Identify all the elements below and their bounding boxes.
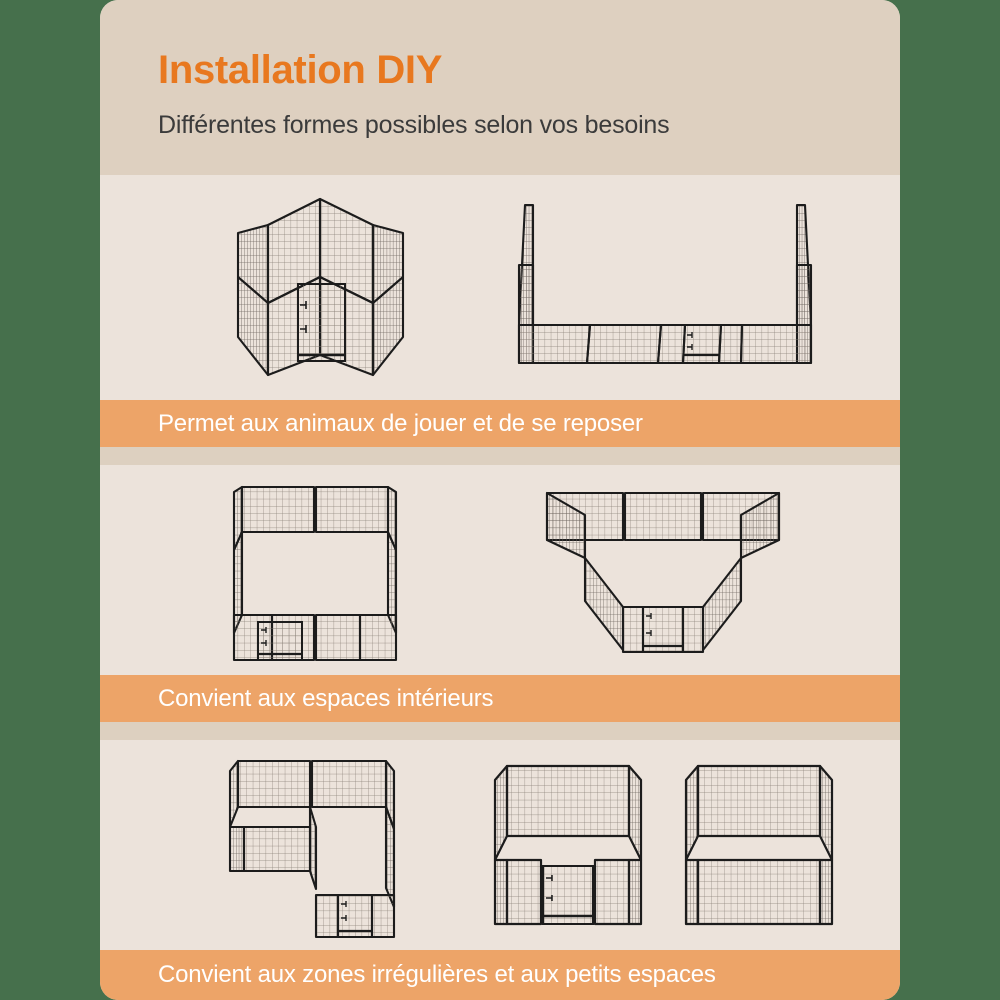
figure-row-1 xyxy=(100,175,900,400)
product-feature-card: Installation DIY Différentes formes poss… xyxy=(100,0,900,1000)
section-3-banner: Convient aux zones irrégulières et aux p… xyxy=(100,950,900,1000)
section-3-banner-label: Convient aux zones irrégulières et aux p… xyxy=(158,961,716,989)
page-subtitle: Différentes formes possibles selon vos b… xyxy=(158,111,669,140)
figure-l-shape-playpen xyxy=(208,745,423,945)
section-2-divider xyxy=(100,722,900,740)
figure-straight-line-playpen xyxy=(495,185,835,380)
figure-small-square-playpen-with-door xyxy=(485,748,650,938)
section-2-banner: Convient aux espaces intérieurs xyxy=(100,675,900,722)
figure-trapezoid-playpen xyxy=(515,470,805,670)
figure-octagon-playpen xyxy=(210,185,430,385)
section-2-banner-label: Convient aux espaces intérieurs xyxy=(158,685,493,713)
section-1-banner-label: Permet aux animaux de jouer et de se rep… xyxy=(158,410,643,438)
figure-small-square-playpen-plain xyxy=(678,748,843,938)
section-1-banner: Permet aux animaux de jouer et de se rep… xyxy=(100,400,900,447)
section-1-divider xyxy=(100,447,900,465)
figure-square-playpen xyxy=(212,470,427,670)
card-header: Installation DIY Différentes formes poss… xyxy=(100,0,900,175)
page-title: Installation DIY xyxy=(158,48,442,93)
figure-row-3 xyxy=(100,740,900,950)
figure-row-2 xyxy=(100,465,900,675)
